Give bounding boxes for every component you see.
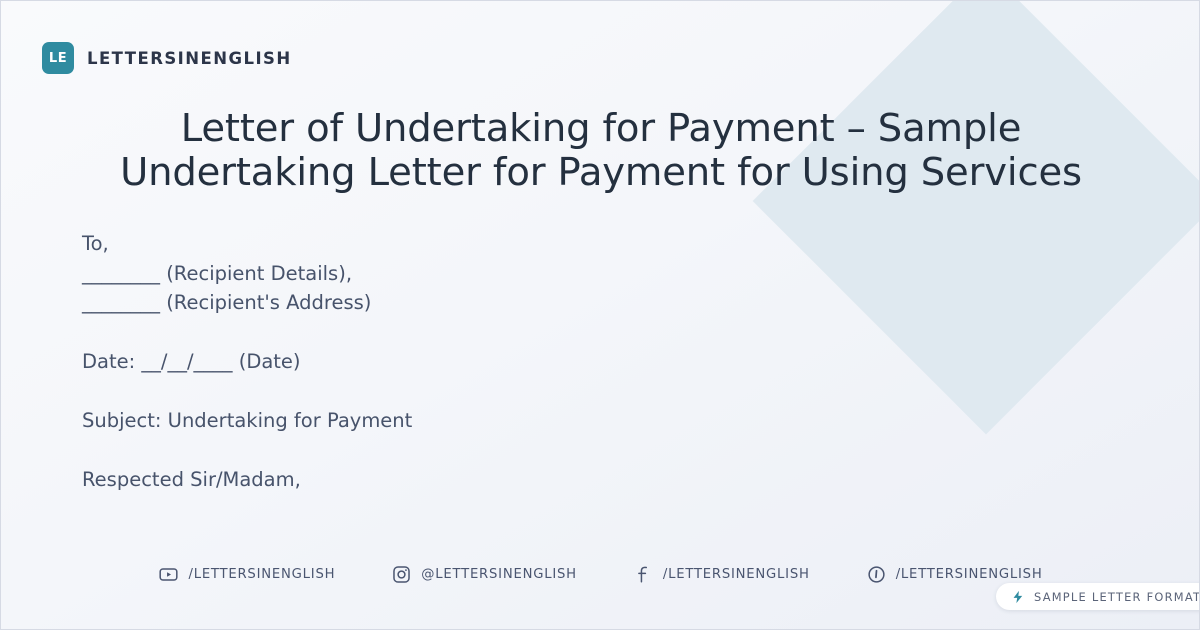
letter-spacer-1 (82, 318, 842, 347)
instagram-icon (392, 565, 411, 584)
social-label-instagram: @LETTERSINENGLISH (421, 567, 577, 582)
page-title-line-2: Letter for Payment for Using Services (368, 150, 1082, 195)
facebook-icon (634, 565, 653, 584)
youtube-icon (159, 565, 178, 584)
sample-letter-format-badge[interactable]: SAMPLE LETTER FORMAT (996, 583, 1200, 610)
social-footer: /LETTERSINENGLISH @LETTERSINENGLISH /LET… (1, 565, 1200, 584)
social-share-card: LE LETTERSINENGLISH Letter of Undertakin… (0, 0, 1200, 630)
letter-line-recipient-details: ________ (Recipient Details), (82, 259, 842, 289)
social-item-pinterest[interactable]: /LETTERSINENGLISH (867, 565, 1043, 584)
social-item-facebook[interactable]: /LETTERSINENGLISH (634, 565, 810, 584)
sample-letter-format-label: SAMPLE LETTER FORMAT (1034, 590, 1200, 604)
lightning-bolt-icon (1011, 590, 1025, 604)
social-label-youtube: /LETTERSINENGLISH (188, 567, 335, 582)
social-item-instagram[interactable]: @LETTERSINENGLISH (392, 565, 577, 584)
letter-line-greeting: Respected Sir/Madam, (82, 465, 842, 495)
letter-line-date: Date: __/__/____ (Date) (82, 347, 842, 377)
social-label-pinterest: /LETTERSINENGLISH (896, 567, 1043, 582)
brand-logo-badge: LE (42, 42, 74, 74)
pinterest-icon (867, 565, 886, 584)
letter-line-to: To, (82, 229, 842, 259)
page-title: Letter of Undertaking for Payment – Samp… (61, 107, 1141, 195)
letter-spacer-2 (82, 377, 842, 406)
letter-body: To, ________ (Recipient Details), ______… (82, 229, 842, 494)
social-item-youtube[interactable]: /LETTERSINENGLISH (159, 565, 335, 584)
brand-name: LETTERSINENGLISH (87, 49, 292, 68)
letter-spacer-3 (82, 436, 842, 465)
letter-line-recipient-address: ________ (Recipient's Address) (82, 288, 842, 318)
brand-header: LE LETTERSINENGLISH (42, 42, 292, 74)
letter-line-subject: Subject: Undertaking for Payment (82, 406, 842, 436)
social-label-facebook: /LETTERSINENGLISH (663, 567, 810, 582)
